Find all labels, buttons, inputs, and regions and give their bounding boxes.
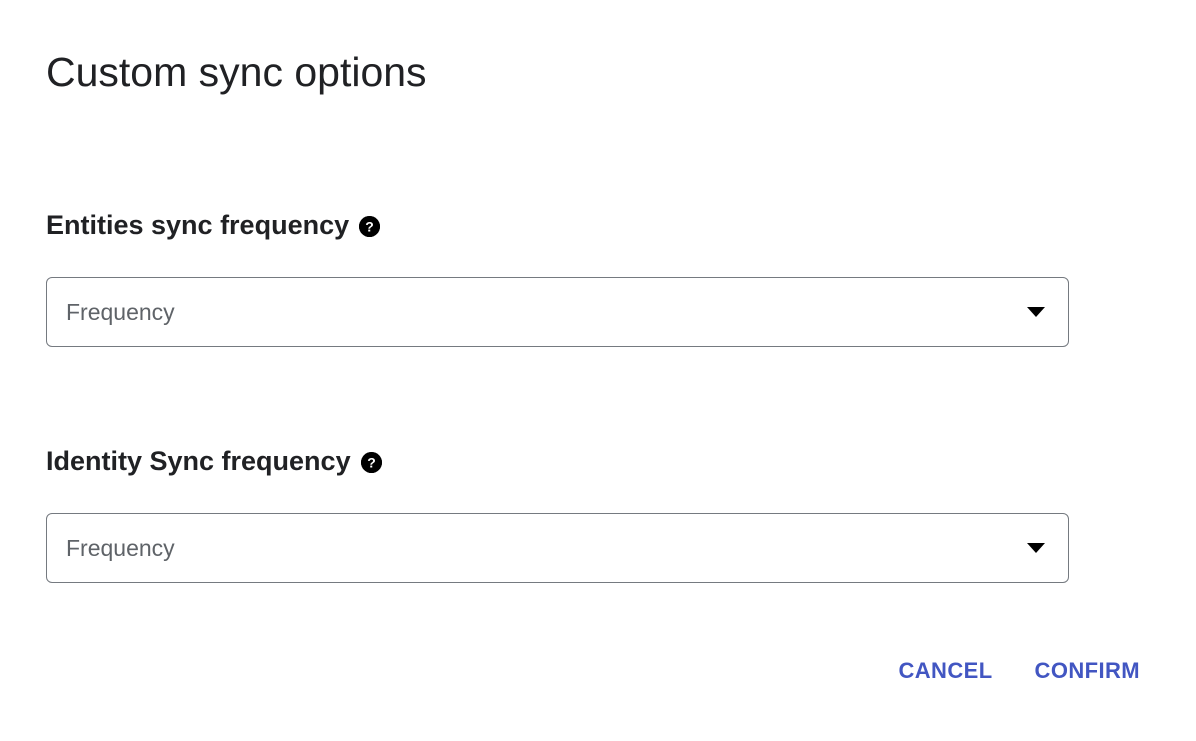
- page-title: Custom sync options: [46, 48, 427, 96]
- identity-sync-frequency-select[interactable]: Frequency: [46, 513, 1069, 583]
- entities-sync-frequency-select[interactable]: Frequency: [46, 277, 1069, 347]
- dialog-actions: CANCEL CONFIRM: [888, 652, 1150, 690]
- identity-sync-frequency-value: Frequency: [47, 534, 175, 562]
- chevron-down-icon[interactable]: [1027, 307, 1045, 317]
- entities-sync-frequency-value: Frequency: [47, 298, 175, 326]
- identity-sync-frequency-label: Identity Sync frequency: [46, 445, 351, 477]
- field-group-entities-sync-frequency: Entities sync frequency ? Frequency: [46, 206, 1069, 347]
- help-circle-icon[interactable]: ?: [359, 216, 380, 237]
- field-group-identity-sync-frequency: Identity Sync frequency ? Frequency: [46, 442, 1069, 583]
- field-label-row: Identity Sync frequency ?: [46, 442, 1069, 480]
- entities-sync-frequency-label: Entities sync frequency: [46, 209, 349, 241]
- svg-text:?: ?: [365, 218, 374, 234]
- svg-text:?: ?: [367, 454, 376, 470]
- help-circle-icon[interactable]: ?: [361, 452, 382, 473]
- field-label-row: Entities sync frequency ?: [46, 206, 1069, 244]
- cancel-button[interactable]: CANCEL: [888, 652, 1002, 690]
- custom-sync-options-dialog: Custom sync options Entities sync freque…: [0, 0, 1196, 741]
- confirm-button[interactable]: CONFIRM: [1025, 652, 1150, 690]
- chevron-down-icon[interactable]: [1027, 543, 1045, 553]
